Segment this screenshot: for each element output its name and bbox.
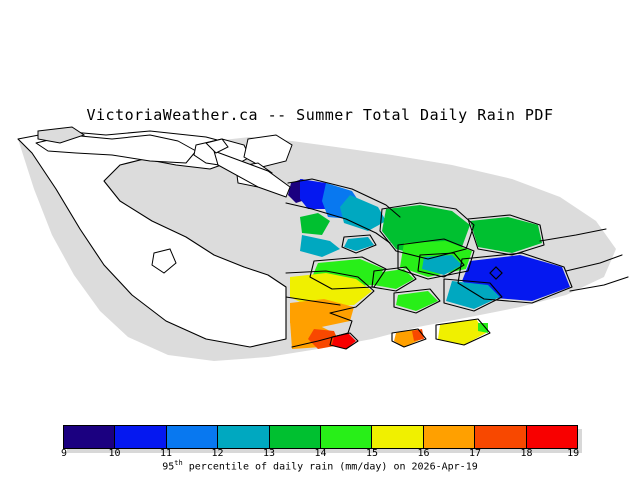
colorbar-tick-14: 14 [314, 448, 326, 459]
colorbar-band-15-16[interactable] [371, 426, 422, 448]
colorbar-band-13-14[interactable] [269, 426, 320, 448]
caption-prefix: 95 [162, 461, 174, 472]
caption-superscript: th [174, 459, 182, 467]
colorbar-tick-13: 13 [263, 448, 275, 459]
colorbar-tick-9: 9 [61, 448, 67, 459]
colorbar-band-10-11[interactable] [114, 426, 165, 448]
colorbar-caption: 95th percentile of daily rain (mm/day) o… [0, 459, 640, 472]
colorbar-band-14-15[interactable] [320, 426, 371, 448]
colorbar-band-18-19[interactable] [526, 426, 577, 448]
colorbar-tick-19: 19 [567, 448, 579, 459]
colorbar-band-12-13[interactable] [217, 426, 268, 448]
caption-suffix: percentile of daily rain (mm/day) on 202… [183, 461, 478, 472]
colorbar-tick-16: 16 [417, 448, 429, 459]
weather-map-page: VictoriaWeather.ca -- Summer Total Daily… [0, 0, 640, 480]
map-canvas[interactable] [0, 125, 640, 410]
colorbar-tick-17: 17 [469, 448, 481, 459]
colorbar-band-16-17[interactable] [423, 426, 474, 448]
colorbar-bands[interactable] [63, 425, 578, 449]
colorbar-band-11-12[interactable] [166, 426, 217, 448]
colorbar-tick-12: 12 [211, 448, 223, 459]
colorbar-tick-10: 10 [108, 448, 120, 459]
page-title: VictoriaWeather.ca -- Summer Total Daily… [0, 106, 640, 124]
colorbar-band-9-10[interactable] [64, 426, 114, 448]
map-svg [0, 125, 640, 410]
colorbar-tick-11: 11 [160, 448, 172, 459]
colorbar-tick-18: 18 [520, 448, 532, 459]
colorbar-tick-15: 15 [366, 448, 378, 459]
colorbar-band-17-18[interactable] [474, 426, 525, 448]
colorbar[interactable] [63, 425, 578, 449]
